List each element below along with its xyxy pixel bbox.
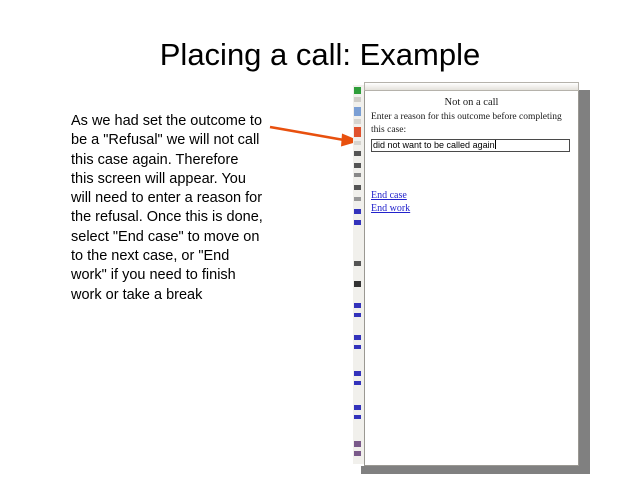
sliver-fragment <box>354 197 361 201</box>
reason-input[interactable]: did not want to be called again <box>371 139 570 152</box>
sliver-fragment <box>354 163 361 168</box>
sliver-fragment <box>354 303 361 308</box>
end-case-link[interactable]: End case <box>371 190 578 203</box>
panel-shadow-right <box>579 90 590 474</box>
end-work-link[interactable]: End work <box>371 203 578 216</box>
sliver-fragment <box>354 451 361 456</box>
sliver-fragment <box>354 335 361 340</box>
sliver-fragment <box>354 87 361 94</box>
sliver-fragment <box>354 141 361 145</box>
sliver-fragment <box>354 119 361 124</box>
sliver-fragment <box>354 345 361 349</box>
browser-content-pane: Not on a call Enter a reason for this ou… <box>364 91 579 466</box>
page-title: Placing a call: Example <box>0 36 640 74</box>
sliver-fragment <box>354 209 361 214</box>
slide-body-text: As we had set the outcome to be a "Refus… <box>71 112 263 305</box>
sliver-fragment <box>354 415 361 419</box>
sliver-fragment <box>354 151 361 156</box>
sliver-fragment <box>354 381 361 385</box>
app-screenshot-panel: Not on a call Enter a reason for this ou… <box>353 82 579 466</box>
sliver-fragment <box>354 127 361 137</box>
reason-input-value: did not want to be called again <box>373 140 495 150</box>
sliver-fragment <box>354 185 361 190</box>
text-caret <box>495 140 496 149</box>
sliver-fragment <box>354 281 361 287</box>
sliver-fragment <box>354 107 361 116</box>
panel-shadow-bottom <box>361 466 590 474</box>
reason-prompt-label: Enter a reason for this outcome before c… <box>371 111 574 136</box>
annotation-arrow-icon <box>268 118 364 150</box>
sliver-fragment <box>354 313 361 317</box>
sliver-fragment <box>354 405 361 410</box>
sliver-fragment <box>354 173 361 177</box>
sliver-fragment <box>354 371 361 376</box>
sliver-fragment <box>354 220 361 225</box>
sliver-fragment <box>354 97 361 102</box>
browser-toolbar-strip[interactable] <box>364 82 579 91</box>
sliver-fragment <box>354 441 361 447</box>
sliver-fragment <box>354 261 361 266</box>
app-heading: Not on a call <box>365 97 578 108</box>
action-links: End case End work <box>371 190 578 215</box>
